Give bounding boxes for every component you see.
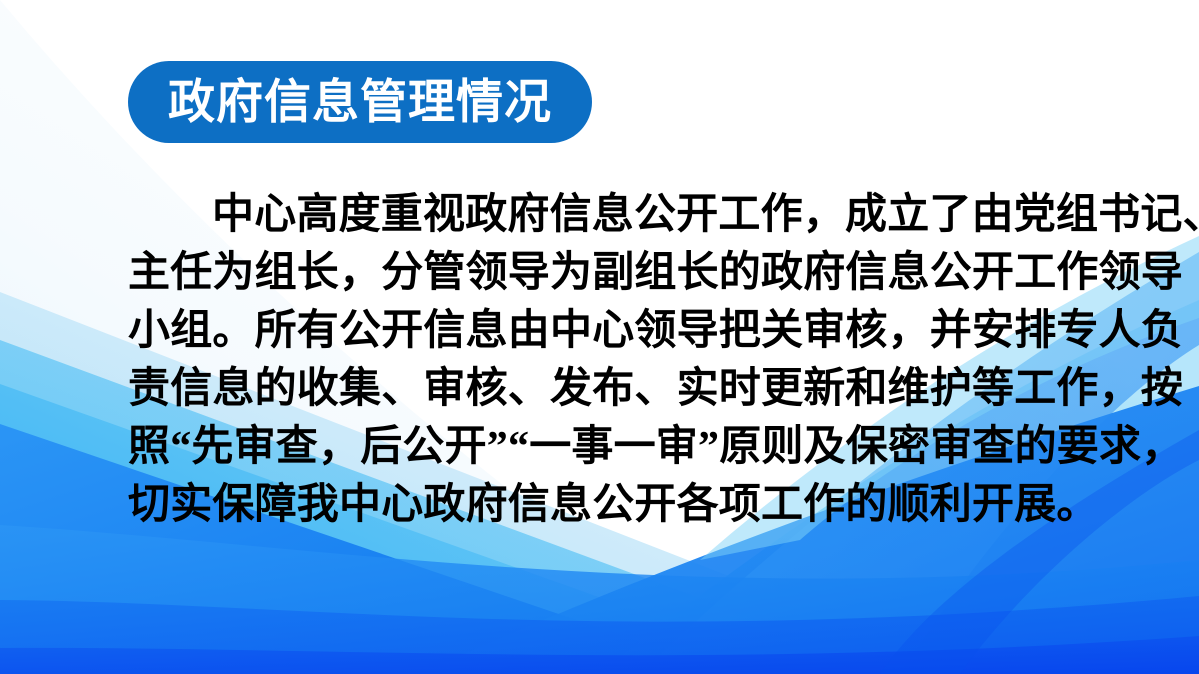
background-wave-bottom-deep — [0, 596, 1199, 674]
body-line-5: 照“先审查，后公开”“一事一审”原则及保密审查的要求， — [128, 418, 1080, 476]
body-line-3: 小组。所有公开信息由中心领导把关审核，并安排专人负 — [128, 302, 1080, 360]
slide: 政府信息管理情况 中心高度重视政府信息公开工作，成立了由党组书记、 主任为组长，… — [0, 0, 1199, 674]
title-badge: 政府信息管理情况 — [128, 61, 592, 143]
background-wave-bottom-deepest — [0, 636, 1199, 674]
title-badge-label: 政府信息管理情况 — [168, 78, 552, 125]
body-line-2: 主任为组长，分管领导为副组长的政府信息公开工作领导 — [128, 244, 1080, 302]
body-line-4: 责信息的收集、审核、发布、实时更新和维护等工作，按 — [128, 360, 1080, 418]
body-line-6: 切实保障我中心政府信息公开各项工作的顺利开展。 — [128, 476, 1080, 534]
body-paragraph: 中心高度重视政府信息公开工作，成立了由党组书记、 主任为组长，分管领导为副组长的… — [128, 186, 1080, 534]
background-wave-bottom-light — [0, 525, 1199, 674]
body-line-1: 中心高度重视政府信息公开工作，成立了由党组书记、 — [128, 186, 1080, 244]
